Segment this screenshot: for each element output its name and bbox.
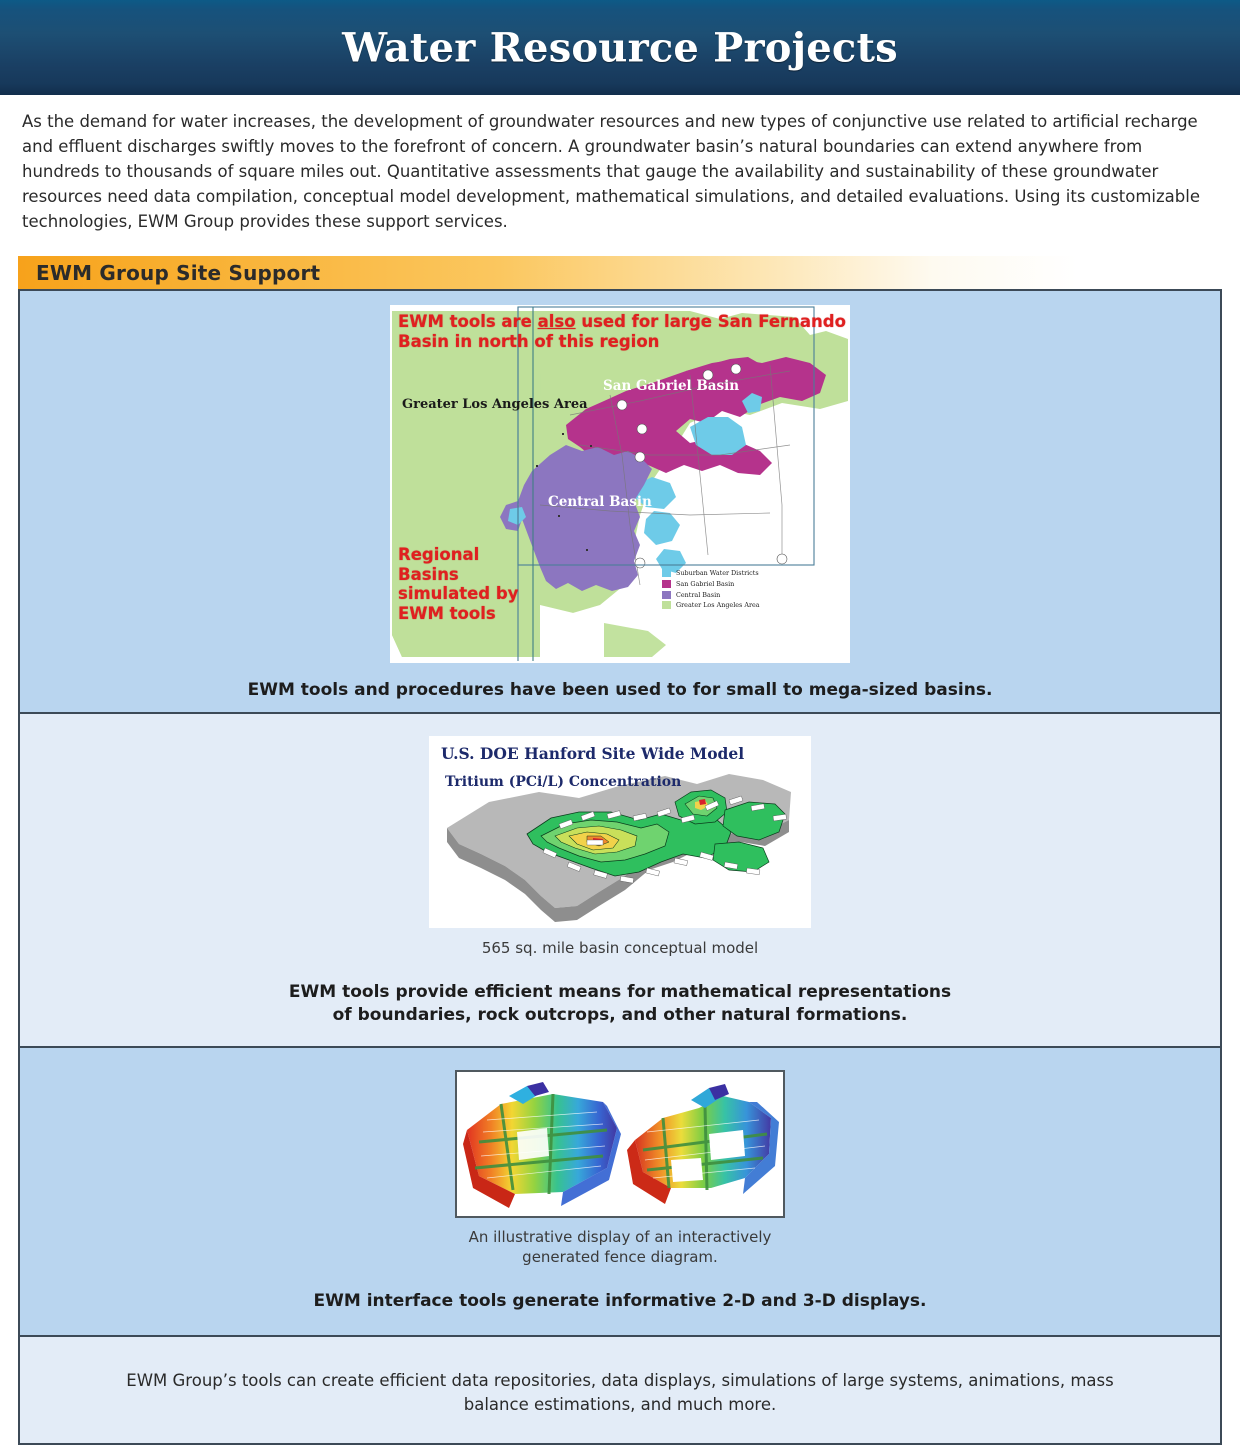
footer-note-line-2: balance estimations, and much more.	[80, 1393, 1160, 1417]
map-legend-item: Central Basin	[662, 591, 760, 599]
legend-swatch-central-basin	[662, 591, 671, 599]
map-annotation-bottom-line-1: Regional	[398, 545, 518, 564]
caption-fence-small-line-1: An illustrative display of an interactiv…	[469, 1228, 772, 1248]
legend-swatch-san-gabriel-basin	[662, 580, 671, 588]
caption-hanford-bold: EWM tools provide efficient means for ma…	[289, 981, 951, 1027]
hanford-figure-title: U.S. DOE Hanford Site Wide Model	[441, 744, 744, 763]
caption-hanford-bold-line-1: EWM tools provide efficient means for ma…	[289, 981, 951, 1004]
map-annotation-top-underline: also	[538, 312, 576, 331]
section-heading-bar: EWM Group Site Support	[18, 256, 1222, 289]
map-annotation-bottom-line-4: EWM tools	[398, 604, 518, 623]
caption-hanford-small: 565 sq. mile basin conceptual model	[482, 939, 758, 959]
legend-label-central-basin: Central Basin	[676, 591, 720, 599]
caption-fence-small: An illustrative display of an interactiv…	[469, 1228, 772, 1268]
map-annotation-bottom: Regional Basins simulated by EWM tools	[398, 545, 518, 623]
content-panel: EWM tools are also used for large San Fe…	[18, 289, 1222, 1444]
map-annotation-top: EWM tools are also used for large San Fe…	[398, 312, 846, 351]
map-annotation-bottom-line-2: Basins	[398, 565, 518, 584]
fence-diagram-svg	[457, 1072, 783, 1216]
legend-label-suburban-water-districts: Suburban Water Districts	[676, 569, 759, 577]
page-header-banner: Water Resource Projects	[0, 0, 1240, 95]
intro-paragraph: As the demand for water increases, the d…	[22, 109, 1218, 234]
page-title: Water Resource Projects	[0, 24, 1240, 71]
row-la-basin: EWM tools are also used for large San Fe…	[20, 291, 1220, 712]
row-hanford: U.S. DOE Hanford Site Wide Model Tritium…	[20, 712, 1220, 1046]
legend-label-san-gabriel-basin: San Gabriel Basin	[676, 580, 734, 588]
section-heading-label: EWM Group Site Support	[18, 261, 320, 285]
hanford-figure-subtitle: Tritium (PCi/L) Concentration	[445, 774, 681, 790]
map-legend: Suburban Water Districts San Gabriel Bas…	[662, 569, 760, 611]
footer-note: EWM Group’s tools can create efficient d…	[80, 1369, 1160, 1417]
hanford-model-figure: U.S. DOE Hanford Site Wide Model Tritium…	[429, 736, 811, 928]
row-footer-note: EWM Group’s tools can create efficient d…	[20, 1335, 1220, 1443]
legend-swatch-greater-la-area	[662, 601, 671, 609]
map-legend-item: San Gabriel Basin	[662, 580, 760, 588]
map-legend-item: Greater Los Angeles Area	[662, 601, 760, 609]
row-fence-diagram: An illustrative display of an interactiv…	[20, 1046, 1220, 1334]
footer-note-line-1: EWM Group’s tools can create efficient d…	[80, 1369, 1160, 1393]
la-basin-map-figure: EWM tools are also used for large San Fe…	[390, 305, 850, 663]
caption-hanford-bold-line-2: of boundaries, rock outcrops, and other …	[289, 1004, 951, 1027]
caption-la-basin: EWM tools and procedures have been used …	[248, 679, 993, 702]
caption-fence-small-line-2: generated fence diagram.	[469, 1248, 772, 1268]
fence-diagram-figure	[455, 1070, 785, 1218]
legend-label-greater-la-area: Greater Los Angeles Area	[676, 601, 760, 609]
hanford-model-svg	[429, 736, 811, 928]
map-annotation-bottom-line-3: simulated by	[398, 584, 518, 603]
map-legend-item: Suburban Water Districts	[662, 569, 760, 577]
legend-swatch-suburban-water-districts	[662, 569, 671, 577]
caption-fence-bold: EWM interface tools generate informative…	[314, 1290, 927, 1313]
map-annotation-top-part1: EWM tools are	[398, 312, 538, 331]
